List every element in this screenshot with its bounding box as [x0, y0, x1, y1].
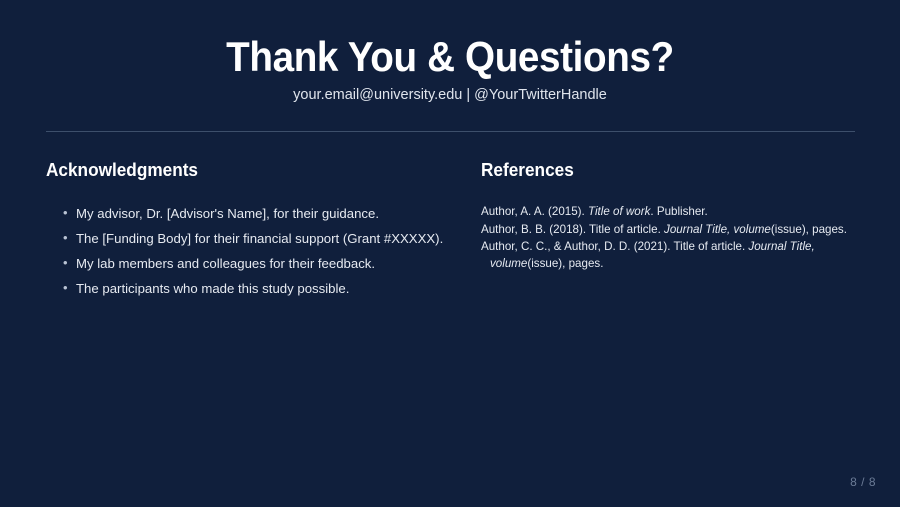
acknowledgment-item: My advisor, Dr. [Advisor's Name], for th…	[46, 204, 446, 223]
content-columns: Acknowledgments My advisor, Dr. [Advisor…	[0, 158, 900, 458]
reference-locator: (issue), pages.	[771, 223, 847, 236]
contact-subtitle: your.email@university.edu | @YourTwitter…	[0, 85, 900, 105]
page-number: 8 / 8	[850, 474, 876, 490]
reference-authors-year: Author, A. A. (2015).	[481, 205, 588, 218]
reference-item: Author, B. B. (2018). Title of article. …	[481, 222, 861, 239]
acknowledgment-item: The participants who made this study pos…	[46, 279, 446, 298]
slide-title: Thank You & Questions?	[36, 32, 864, 82]
acknowledgments-list: My advisor, Dr. [Advisor's Name], for th…	[46, 204, 446, 298]
reference-title-italic: Journal Title, volume	[664, 223, 771, 236]
title-block: Thank You & Questions? your.email@univer…	[0, 32, 900, 105]
reference-item: Author, C. C., & Author, D. D. (2021). T…	[481, 239, 861, 272]
references-heading: References	[481, 158, 834, 182]
acknowledgment-item: My lab members and colleagues for their …	[46, 254, 446, 273]
reference-item: Author, A. A. (2015). Title of work. Pub…	[481, 204, 861, 221]
reference-locator: . Publisher.	[650, 205, 707, 218]
reference-locator: (issue), pages.	[527, 257, 603, 270]
references-list: Author, A. A. (2015). Title of work. Pub…	[481, 204, 861, 272]
reference-authors-year: Author, B. B. (2018). Title of article.	[481, 223, 664, 236]
reference-title-italic: Title of work	[588, 205, 650, 218]
acknowledgment-item: The [Funding Body] for their financial s…	[46, 229, 446, 248]
header-divider	[46, 131, 855, 132]
presentation-slide: Thank You & Questions? your.email@univer…	[0, 0, 900, 507]
acknowledgments-heading: Acknowledgments	[46, 158, 418, 182]
acknowledgments-column: Acknowledgments My advisor, Dr. [Advisor…	[46, 158, 446, 304]
reference-authors-year: Author, C. C., & Author, D. D. (2021). T…	[481, 240, 748, 253]
references-column: References Author, A. A. (2015). Title o…	[481, 158, 861, 273]
